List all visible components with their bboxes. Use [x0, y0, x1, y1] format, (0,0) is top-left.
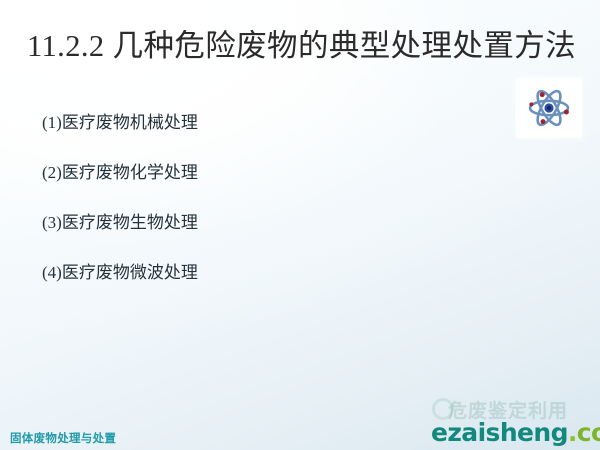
atom-icon	[526, 87, 572, 129]
list-item: (1)医疗废物机械处理	[42, 112, 462, 162]
brand-dot: .	[568, 418, 577, 447]
list-item: (4)医疗废物微波处理	[42, 262, 462, 312]
list-item: (3)医疗废物生物处理	[42, 212, 462, 262]
page-title: 11.2.2 几种危险废物的典型处理处置方法	[27, 26, 593, 66]
content-list: (1)医疗废物机械处理 (2)医疗废物化学处理 (3)医疗废物生物处理 (4)医…	[42, 112, 462, 312]
list-item: (2)医疗废物化学处理	[42, 162, 462, 212]
logo-badge	[516, 78, 582, 138]
slide-canvas: 11.2.2 几种危险废物的典型处理处置方法	[0, 0, 600, 450]
footer-label: 固体废物处理与处置	[10, 430, 116, 446]
brand-tld: com	[577, 418, 600, 447]
brand-name: ezaisheng	[431, 418, 568, 447]
brand-logo: ezaisheng.com	[431, 419, 600, 446]
